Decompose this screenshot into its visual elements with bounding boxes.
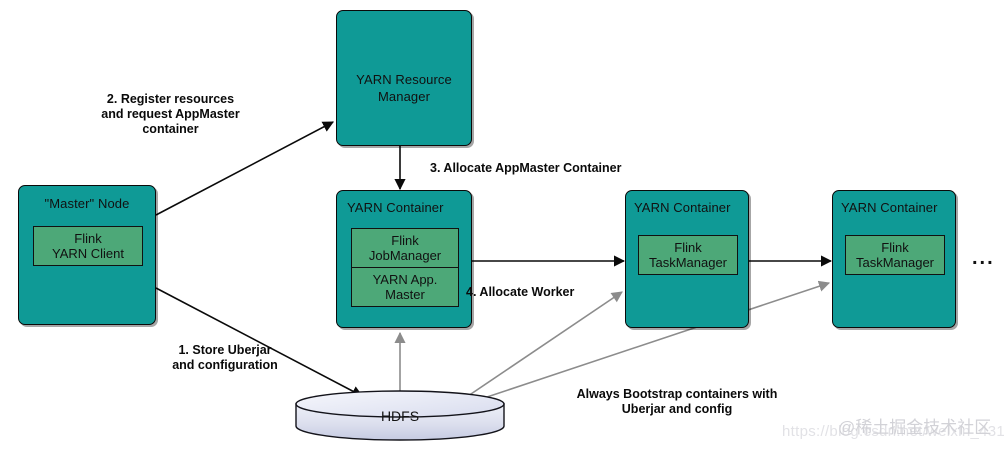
flink-jobmanager-line2: JobManager bbox=[369, 248, 441, 263]
more-containers-ellipsis: ... bbox=[972, 253, 995, 263]
label-step-2-line3: container bbox=[63, 122, 278, 137]
yarn-container-jobmanager-box[interactable]: YARN Container Flink JobManager YARN App… bbox=[336, 190, 472, 328]
label-step-1: 1. Store Uberjar and configuration bbox=[135, 343, 315, 373]
label-step-4: 4. Allocate Worker bbox=[466, 285, 574, 300]
label-step-3-text: 3. Allocate AppMaster Container bbox=[430, 161, 621, 175]
yarn-app-master-line1: YARN App. bbox=[373, 272, 438, 287]
yarn-resource-manager-title-line2: Manager bbox=[337, 89, 471, 104]
flink-taskmanager-2-line2: TaskManager bbox=[856, 255, 934, 270]
flink-yarn-client-line2: YARN Client bbox=[52, 246, 124, 261]
label-bootstrap-line1: Always Bootstrap containers with bbox=[537, 387, 817, 402]
label-bootstrap: Always Bootstrap containers with Uberjar… bbox=[537, 387, 817, 417]
yarn-resource-manager-title-line1: YARN Resource bbox=[337, 72, 471, 87]
master-node-box[interactable]: "Master" Node Flink YARN Client bbox=[18, 185, 156, 325]
flink-jobmanager-line1: Flink bbox=[391, 233, 418, 248]
flink-taskmanager-2-box[interactable]: Flink TaskManager bbox=[845, 235, 945, 275]
yarn-app-master-box[interactable]: YARN App. Master bbox=[351, 267, 459, 307]
yarn-container-taskmanager-1-title: YARN Container bbox=[634, 200, 742, 215]
flink-taskmanager-1-line2: TaskManager bbox=[649, 255, 727, 270]
arrow-master-to-hdfs bbox=[156, 288, 362, 396]
yarn-container-taskmanager-1-box[interactable]: YARN Container Flink TaskManager bbox=[625, 190, 749, 328]
master-node-title: "Master" Node bbox=[19, 196, 155, 211]
label-step-4-text: 4. Allocate Worker bbox=[466, 285, 574, 299]
arrow-hdfs-to-taskmanager-1 bbox=[468, 292, 622, 396]
label-step-3: 3. Allocate AppMaster Container bbox=[430, 161, 621, 176]
label-bootstrap-line2: Uberjar and config bbox=[537, 402, 817, 417]
yarn-container-jobmanager-title: YARN Container bbox=[347, 200, 465, 215]
flink-taskmanager-2-line1: Flink bbox=[881, 240, 908, 255]
label-step-1-line2: and configuration bbox=[135, 358, 315, 373]
label-step-2-line2: and request AppMaster bbox=[63, 107, 278, 122]
flink-jobmanager-box[interactable]: Flink JobManager bbox=[351, 228, 459, 268]
diagram-canvas: "Master" Node Flink YARN Client YARN Res… bbox=[0, 0, 1005, 455]
flink-taskmanager-1-line1: Flink bbox=[674, 240, 701, 255]
flink-taskmanager-1-box[interactable]: Flink TaskManager bbox=[638, 235, 738, 275]
yarn-container-taskmanager-2-title: YARN Container bbox=[841, 200, 949, 215]
label-step-2-line1: 2. Register resources bbox=[63, 92, 278, 107]
yarn-container-taskmanager-2-box[interactable]: YARN Container Flink TaskManager bbox=[832, 190, 956, 328]
yarn-app-master-line2: Master bbox=[385, 287, 425, 302]
yarn-resource-manager-box[interactable]: YARN Resource Manager bbox=[336, 10, 472, 146]
label-step-2: 2. Register resources and request AppMas… bbox=[63, 92, 278, 137]
hdfs-cylinder[interactable]: HDFS bbox=[292, 390, 508, 446]
hdfs-label: HDFS bbox=[381, 408, 419, 424]
flink-yarn-client-box[interactable]: Flink YARN Client bbox=[33, 226, 143, 266]
watermark-brand: @稀土掘金技术社区 bbox=[838, 413, 991, 438]
label-step-1-line1: 1. Store Uberjar bbox=[135, 343, 315, 358]
flink-yarn-client-line1: Flink bbox=[74, 231, 101, 246]
